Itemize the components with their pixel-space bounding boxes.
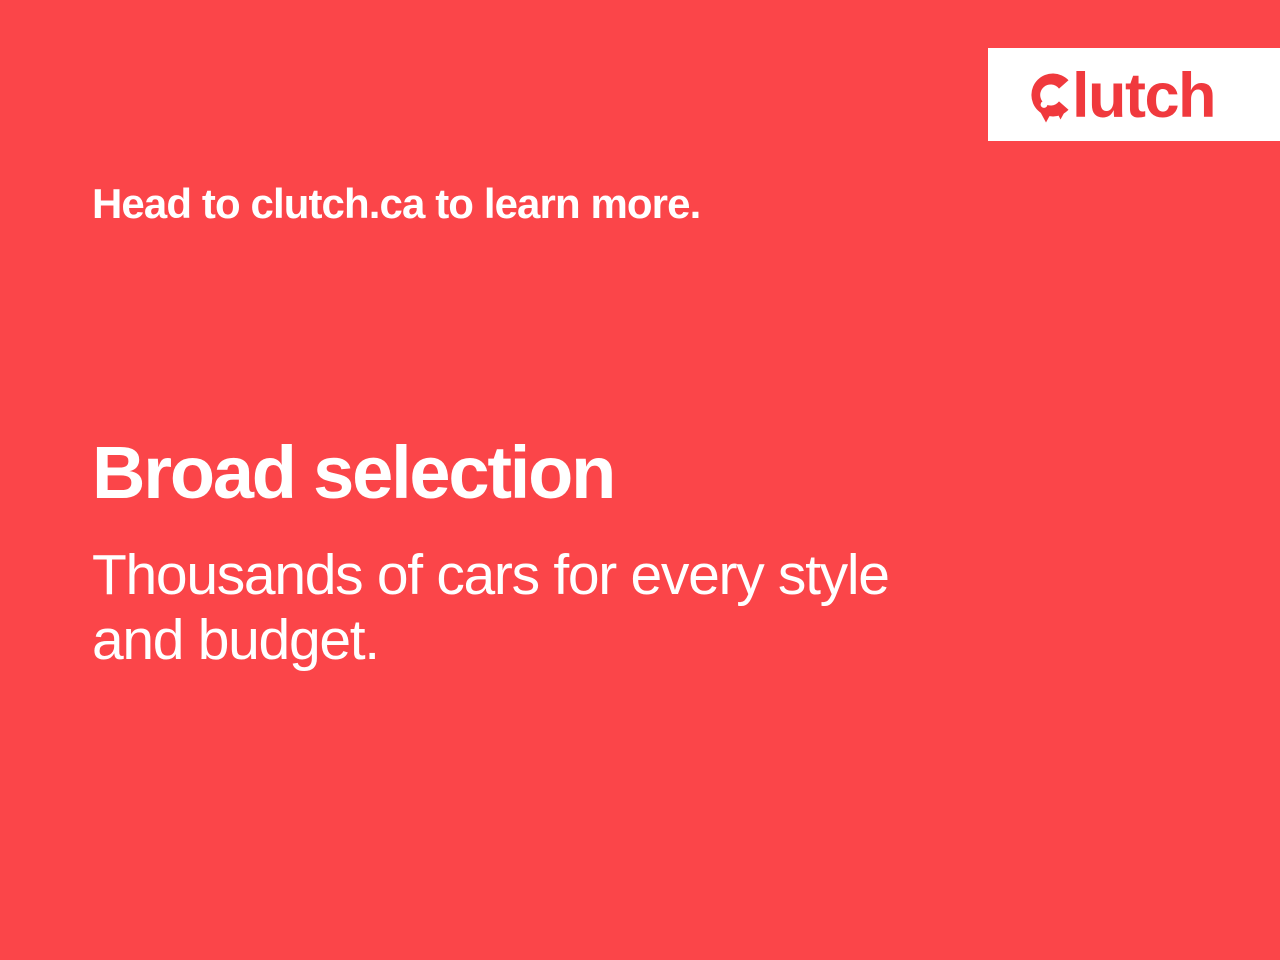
subheadline-line-1: Thousands of cars for every style [92, 543, 1052, 608]
logo-lockup: lutch [1024, 66, 1215, 123]
subheadline-line-2: and budget. [92, 608, 1052, 673]
clutch-c-mark-icon [1024, 66, 1070, 124]
slide-canvas: lutch Head to clutch.ca to learn more. B… [0, 0, 1280, 960]
clutch-wordmark: lutch [1072, 71, 1215, 123]
subheadline-text: Thousands of cars for every style and bu… [92, 543, 1052, 673]
kicker-text: Head to clutch.ca to learn more. [92, 180, 700, 228]
page-title: Broad selection [92, 436, 614, 510]
clutch-logo-badge[interactable]: lutch [988, 48, 1280, 141]
